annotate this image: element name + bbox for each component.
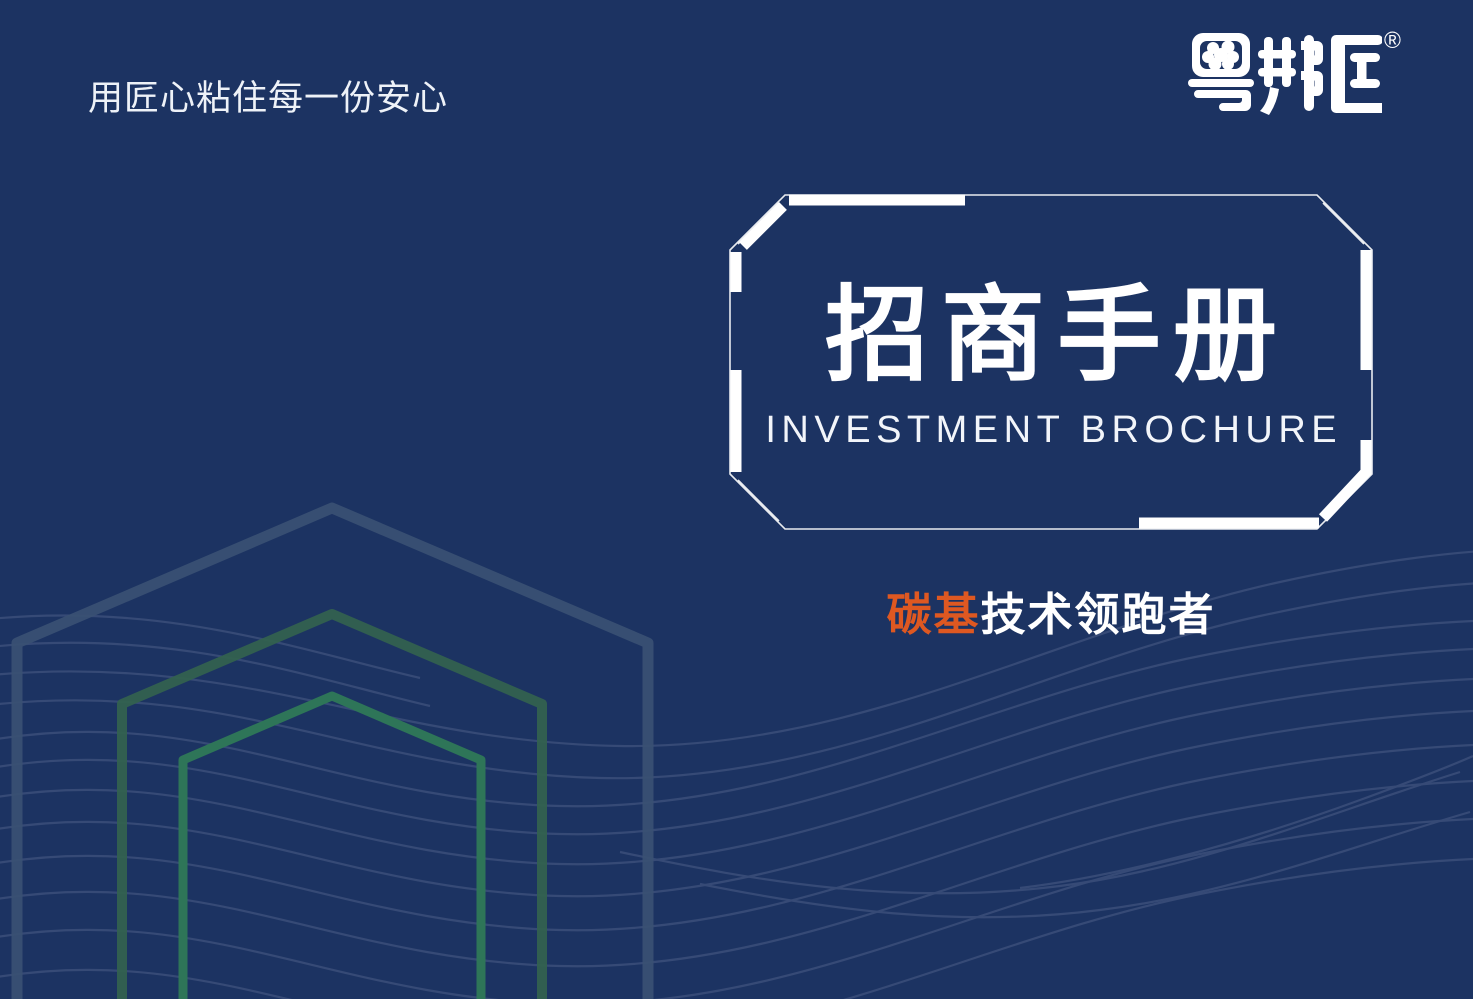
shield-outline-inner: [183, 696, 481, 999]
shield-outline-middle: [122, 614, 542, 999]
page-title-english: INVESTMENT BROCHURE: [760, 409, 1342, 452]
registered-trademark-icon: ®: [1384, 29, 1401, 52]
brochure-cover: 用匠心粘住每一份安心: [0, 0, 1473, 999]
subtitle-accent-text: 碳基: [886, 589, 980, 640]
tagline: 用匠心粘住每一份安心: [88, 78, 448, 120]
brand-logo: ®: [1186, 27, 1401, 115]
page-title-chinese: 招商手册: [813, 278, 1289, 394]
brand-logo-characters: [1186, 27, 1382, 115]
title-block: 招商手册 INVESTMENT BROCHURE: [727, 192, 1375, 532]
title-text-group: 招商手册 INVESTMENT BROCHURE: [727, 192, 1375, 532]
shield-outline-outer: [17, 508, 648, 999]
subtitle-plain-text: 技术领跑者: [981, 589, 1216, 640]
subtitle: 碳基技术领跑者: [727, 578, 1375, 643]
